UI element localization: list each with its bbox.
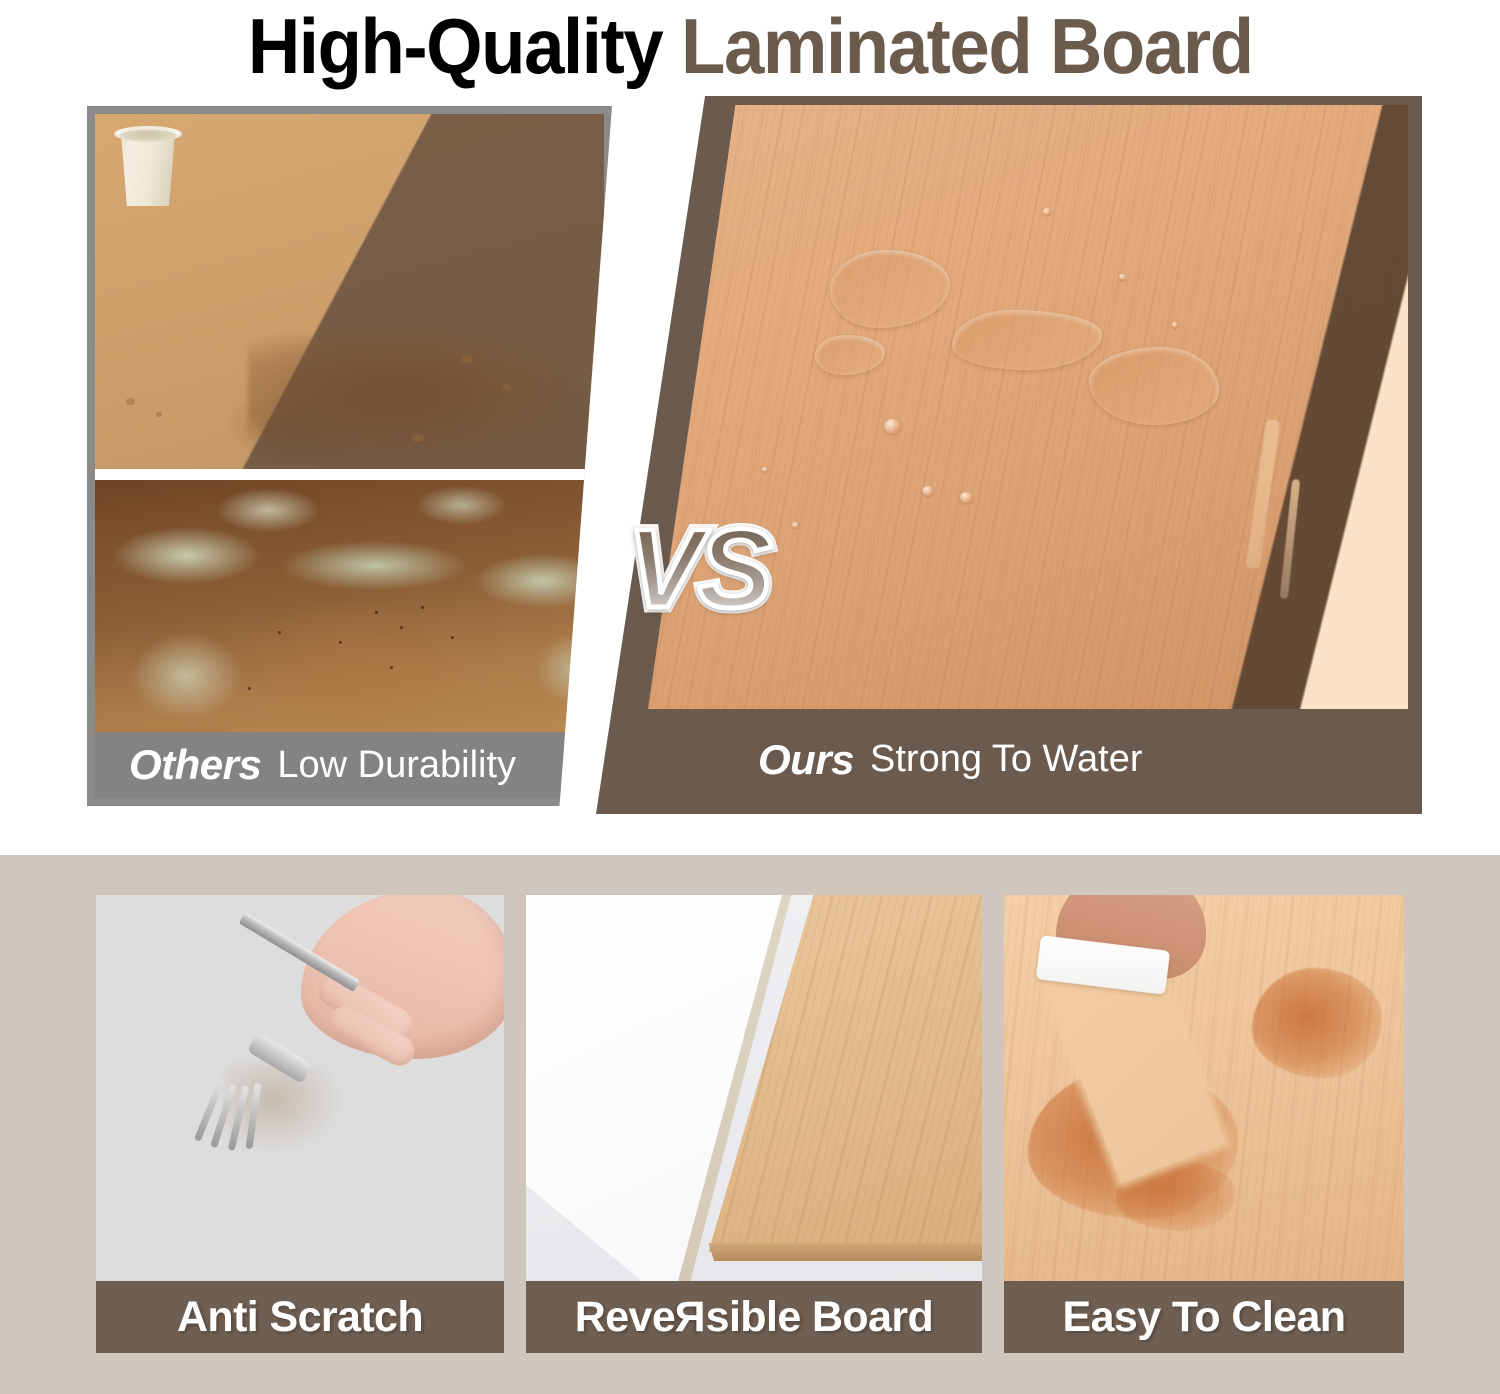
- feature-label-anti-scratch: Anti Scratch: [177, 1293, 423, 1342]
- others-brand-label: Others: [129, 741, 261, 789]
- water-bead: [922, 486, 934, 496]
- water-bead: [762, 467, 768, 472]
- ours-brand-label: Ours: [758, 736, 854, 784]
- others-panel-inner: Others Low Durability: [95, 114, 604, 798]
- water-bead: [960, 492, 973, 503]
- image-divider: [95, 469, 604, 480]
- mold-speck: [339, 641, 342, 644]
- liquid-droplet: [156, 412, 162, 417]
- ours-label-band: Ours Strong To Water: [648, 709, 1408, 810]
- paper-cup-interior: [120, 130, 176, 141]
- mold-speck: [390, 666, 393, 669]
- water-bead: [1119, 274, 1126, 280]
- wood-panel-edge: [708, 1243, 982, 1261]
- water-pool: [815, 335, 885, 375]
- water-pool: [830, 250, 950, 328]
- water-bead: [884, 419, 901, 434]
- liquid-droplet: [411, 434, 424, 442]
- mold-on-board-image: [95, 480, 604, 732]
- liquid-droplet: [126, 398, 135, 405]
- water-pool: [952, 310, 1102, 370]
- others-label-band: Others Low Durability: [95, 732, 604, 798]
- water-bead: [1043, 208, 1051, 215]
- mold-speck: [451, 636, 454, 639]
- title-dark-part: High-Quality: [248, 2, 662, 90]
- feature-card-reversible-board[interactable]: ReveRsible Board: [526, 895, 982, 1353]
- spill-stain: [248, 334, 564, 448]
- page-header: High-Quality Laminated Board: [0, 0, 1500, 92]
- ours-panel: Ours Strong To Water: [596, 96, 1422, 814]
- water-runoff: [1246, 419, 1281, 569]
- spilled-cup-on-board-image: [95, 114, 604, 469]
- mold-speck: [375, 611, 378, 614]
- mold-speck: [400, 626, 403, 629]
- ours-claim-label: Strong To Water: [870, 738, 1142, 781]
- feature-card-easy-to-clean[interactable]: Easy To Clean: [1004, 895, 1404, 1353]
- comparison-section: Others Low Durability: [0, 92, 1500, 832]
- features-section: Anti Scratch ReveRsible Board: [0, 855, 1500, 1394]
- feature-label-band: Easy To Clean: [1004, 1281, 1404, 1353]
- others-panel: Others Low Durability: [87, 106, 612, 806]
- liquid-droplet: [502, 384, 510, 390]
- feature-label-reversible-board: ReveRsible Board: [575, 1293, 933, 1342]
- mold-speck: [248, 687, 251, 690]
- sauce-stain: [1252, 968, 1382, 1078]
- feature-label-easy-to-clean: Easy To Clean: [1063, 1293, 1346, 1342]
- others-claim-label: Low Durability: [277, 744, 516, 787]
- water-bead: [1172, 322, 1178, 328]
- title-brown-part: Laminated Board: [681, 2, 1253, 90]
- mold-speck: [421, 606, 424, 609]
- feature-card-list: Anti Scratch ReveRsible Board: [96, 895, 1406, 1353]
- feature-label-band: Anti Scratch: [96, 1281, 504, 1353]
- mirrored-r-glyph: R: [675, 1293, 705, 1342]
- page-title: High-Quality Laminated Board: [248, 7, 1253, 85]
- vs-badge: VS: [598, 510, 798, 628]
- water-runoff: [1280, 479, 1300, 599]
- mold-speck: [278, 631, 281, 634]
- feature-card-anti-scratch[interactable]: Anti Scratch: [96, 895, 504, 1353]
- feature-label-band: ReveRsible Board: [526, 1281, 982, 1353]
- water-pool: [1089, 347, 1219, 425]
